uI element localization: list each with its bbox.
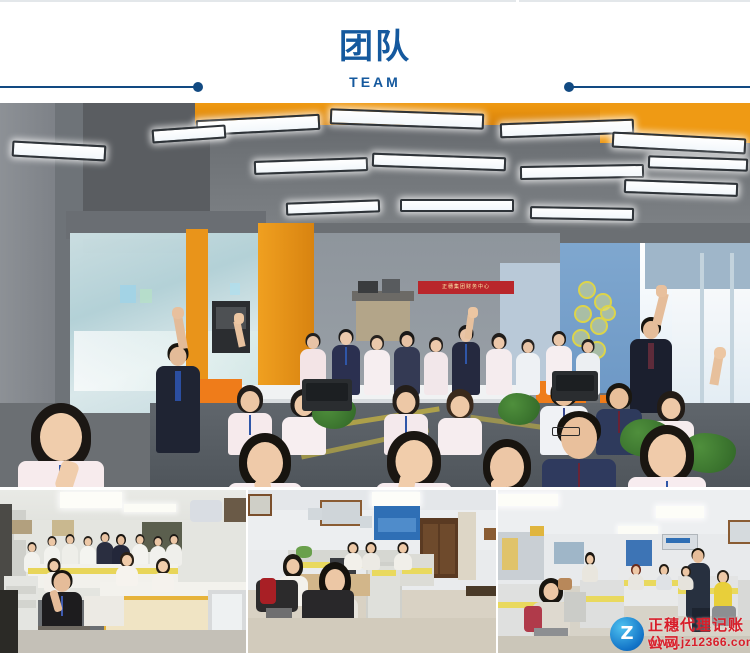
team-section-page: 团队 TEAM bbox=[0, 0, 750, 653]
person bbox=[156, 343, 200, 453]
office-reception-photo bbox=[0, 490, 246, 653]
watermark: Z 正穗代理记账公司 www.jz12366.com bbox=[608, 614, 750, 653]
header-rule-left bbox=[0, 86, 198, 88]
person bbox=[472, 439, 542, 487]
logo-glyph: Z bbox=[617, 624, 637, 644]
watermark-url: www.jz12366.com bbox=[648, 635, 750, 649]
hero-photo: 正穗集团财务中心 bbox=[0, 103, 750, 487]
page-title: 团队 bbox=[0, 28, 750, 66]
person bbox=[628, 425, 706, 487]
header-dot-right-icon bbox=[564, 82, 574, 92]
office-cubicles-photo bbox=[248, 490, 496, 653]
company-logo-icon: Z bbox=[610, 617, 644, 651]
header-rule-right bbox=[568, 86, 750, 88]
wall-banner: 正穗集团财务中心 bbox=[418, 281, 514, 294]
section-header: 团队 TEAM bbox=[0, 2, 750, 103]
person bbox=[542, 411, 616, 487]
header-dot-left-icon bbox=[193, 82, 203, 92]
